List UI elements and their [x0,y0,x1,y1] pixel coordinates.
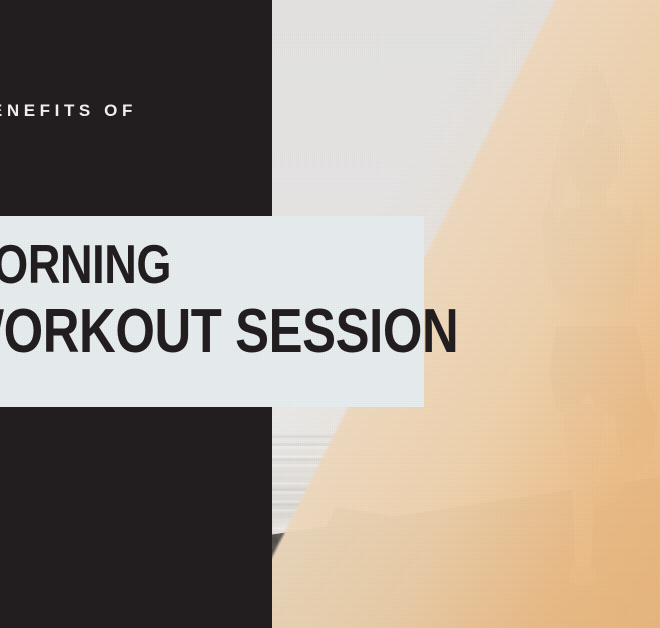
headline: MORNING WORKOUT SESSION [0,238,426,361]
kicker-text: BENEFITS OF [0,101,137,121]
headline-line-2: WORKOUT SESSION [0,302,341,362]
headline-line-1: MORNING [0,238,341,291]
poster-canvas: BENEFITS OF MORNING WORKOUT SESSION [0,0,660,628]
